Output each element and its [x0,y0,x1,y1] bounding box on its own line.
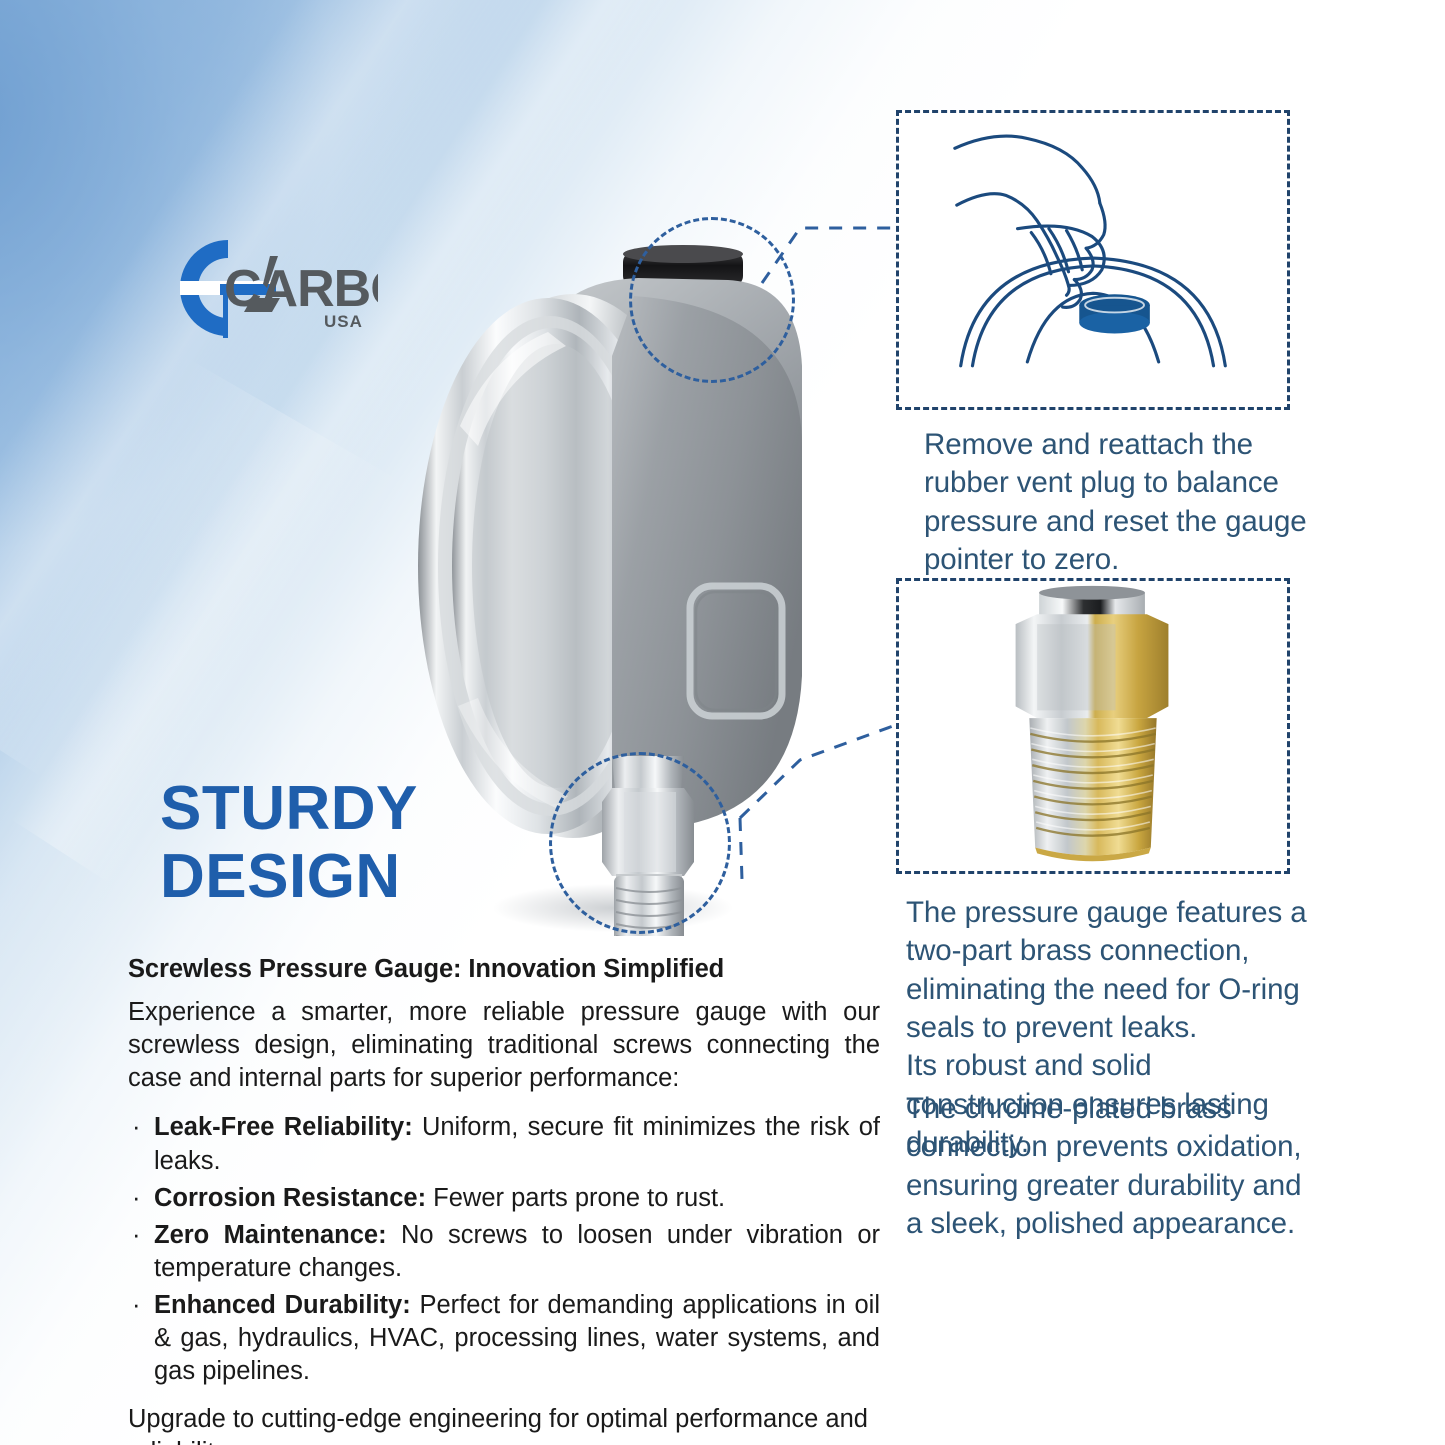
hand-removing-vent-plug-illustration [899,113,1287,407]
feature-label: Zero Maintenance: [154,1221,387,1249]
list-item: · Corrosion Resistance: Fewer parts pron… [128,1182,880,1215]
detail-panel-vent-plug [896,110,1290,410]
caption-vent-plug: Remove and reattach the rubber vent plug… [924,426,1324,579]
callout-circle-vent-plug [629,217,795,383]
list-item: · Zero Maintenance: No screws to loosen … [128,1219,880,1285]
list-item: · Enhanced Durability: Perfect for deman… [128,1289,880,1388]
bullet-mark: · [132,1219,141,1252]
body-copy-outro: Upgrade to cutting-edge engineering for … [128,1403,880,1445]
body-copy: Screwless Pressure Gauge: Innovation Sim… [128,955,880,1445]
caption-chrome-text: The chrome-plated brass connection preve… [906,1090,1306,1243]
body-copy-intro: Experience a smarter, more reliable pres… [128,996,880,1095]
page-title-line-2: DESIGN [160,843,418,911]
vent-plug-puck [1079,294,1150,333]
infographic-page: CARBO USA [0,0,1445,1445]
feature-label: Enhanced Durability: [154,1291,411,1319]
caption-brass-paragraph-1: The pressure gauge features a two-part b… [906,894,1312,1047]
detail-panel-brass-connection [896,578,1290,874]
feature-list: · Leak-Free Reliability: Uniform, secure… [128,1111,880,1388]
caption-vent-plug-text: Remove and reattach the rubber vent plug… [924,426,1324,579]
logo-usa-text: USA [324,312,363,331]
body-copy-title: Screwless Pressure Gauge: Innovation Sim… [128,955,880,984]
page-title: STURDY DESIGN [160,775,418,911]
bullet-mark: · [132,1182,141,1215]
chrome-plated-brass-fitting-illustration [899,581,1287,871]
bullet-mark: · [132,1289,141,1322]
caption-chrome-plating: The chrome-plated brass connection preve… [906,1090,1306,1243]
feature-label: Leak-Free Reliability: [154,1113,413,1141]
callout-circle-thread [549,752,731,934]
carbo-logo: CARBO USA [168,232,378,344]
bullet-mark: · [132,1111,141,1144]
list-item: · Leak-Free Reliability: Uniform, secure… [128,1111,880,1177]
feature-label: Corrosion Resistance: [154,1184,426,1212]
page-title-line-1: STURDY [160,775,418,843]
feature-text: Fewer parts prone to rust. [433,1184,725,1212]
